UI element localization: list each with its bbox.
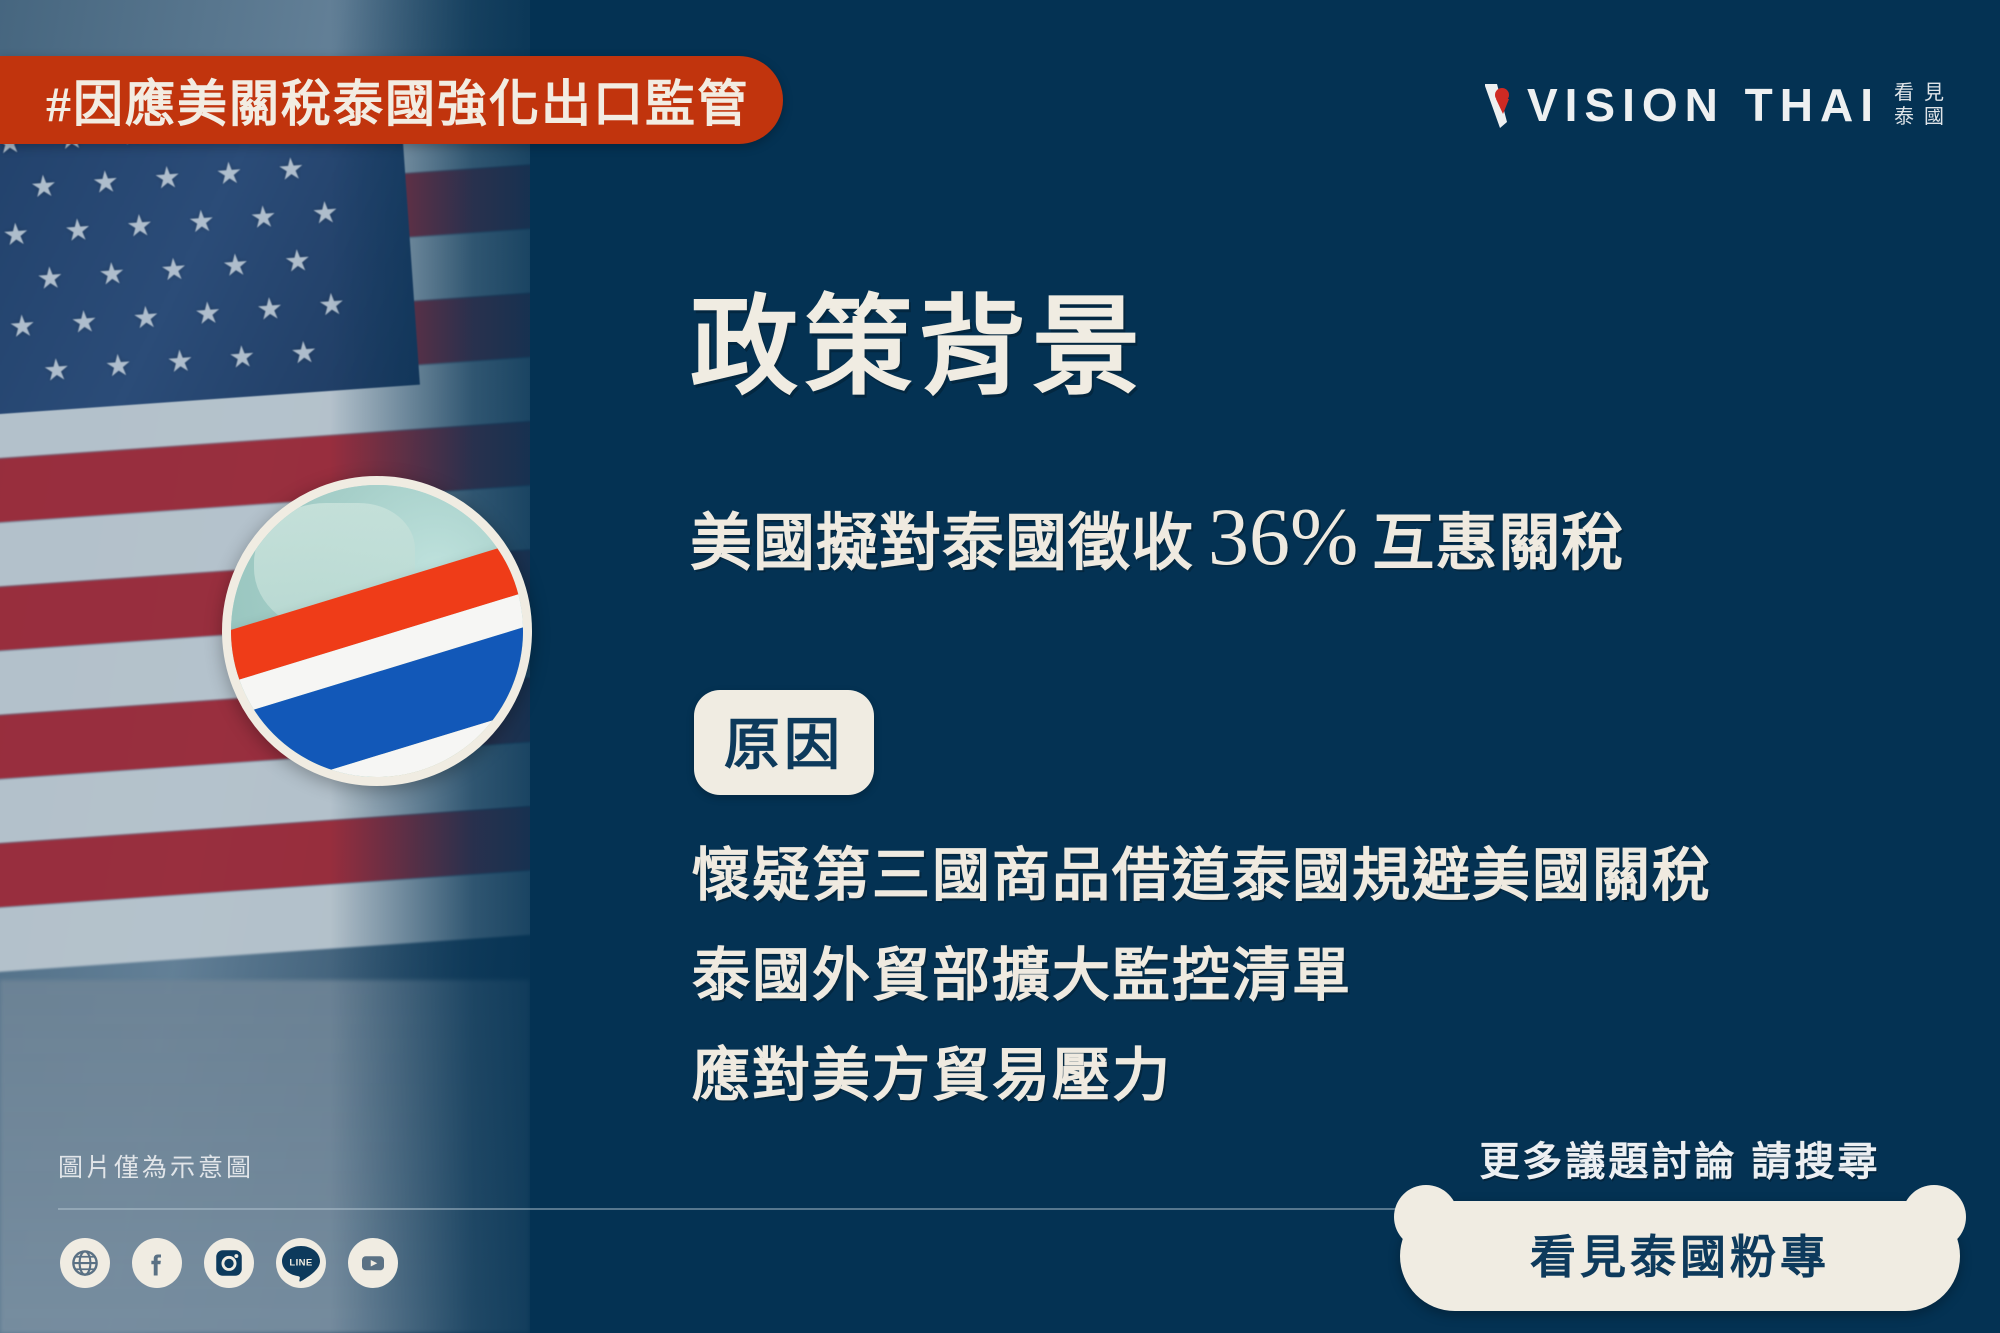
cta-block: 更多議題討論 請搜尋 看見泰國粉專 — [1400, 1129, 1960, 1311]
line-icon[interactable]: LINE — [276, 1238, 326, 1288]
logo-cn-char-3: 泰 — [1894, 106, 1918, 128]
reason-section-chip: 原因 — [694, 690, 874, 795]
list-item: 泰國外貿部擴大監控清單 — [692, 926, 1712, 1026]
subtitle-suffix: 互惠關稅 — [1372, 492, 1624, 582]
page-title: 政策背景 — [690, 292, 1146, 405]
reason-bullet-list: 懷疑第三國商品借道泰國規避美國關稅 泰國外貿部擴大監控清單 應對美方貿易壓力 — [692, 826, 1712, 1125]
logo-v-mark-icon — [1483, 82, 1525, 128]
youtube-icon[interactable] — [348, 1238, 398, 1288]
website-icon[interactable] — [60, 1238, 110, 1288]
tariff-percentage: 36% — [1194, 490, 1372, 584]
vision-thai-logo: VISION THAI 看 見 泰 國 — [1483, 78, 1948, 132]
facebook-icon[interactable] — [132, 1238, 182, 1288]
logo-cn-char-1: 看 — [1894, 82, 1918, 104]
logo-cn-char-4: 國 — [1924, 106, 1948, 128]
thailand-flag-map-circle-photo — [222, 476, 532, 786]
logo-chinese-name: 看 見 泰 國 — [1894, 82, 1948, 128]
cta-headline: 更多議題討論 請搜尋 — [1400, 1129, 1960, 1187]
logo-text: VISION THAI — [1527, 78, 1880, 132]
instagram-icon[interactable] — [204, 1238, 254, 1288]
subtitle-prefix: 美國擬對泰國徵收 — [690, 492, 1194, 582]
list-item: 應對美方貿易壓力 — [692, 1026, 1712, 1126]
hashtag-label: #因應美關稅泰國強化出口監管 — [46, 64, 749, 136]
cta-fanpage-button[interactable]: 看見泰國粉專 — [1400, 1201, 1960, 1311]
list-item: 懷疑第三國商品借道泰國規避美國關稅 — [692, 826, 1712, 926]
subtitle-line: 美國擬對泰國徵收 36% 互惠關稅 — [690, 490, 1624, 584]
hashtag-banner: #因應美關稅泰國強化出口監管 — [0, 56, 783, 144]
logo-cn-char-2: 見 — [1924, 82, 1948, 104]
svg-text:LINE: LINE — [289, 1258, 312, 1269]
social-links: LINE — [60, 1238, 398, 1288]
cta-fanpage-label: 看見泰國粉專 — [1530, 1231, 1830, 1283]
image-disclaimer: 圖片僅為示意圖 — [58, 1148, 254, 1184]
infographic-canvas: ★ ★ ★ ★ ★ ★ ★ ★ ★ ★ ★ ★ ★ ★ ★ ★ ★ ★ ★ ★ … — [0, 0, 2000, 1333]
logo-wordmark: VISION THAI — [1483, 78, 1880, 132]
